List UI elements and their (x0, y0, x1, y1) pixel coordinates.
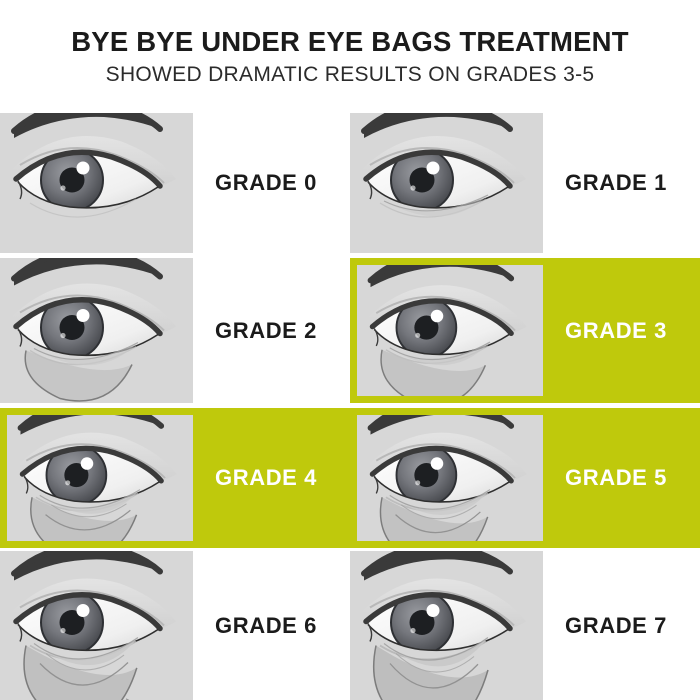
grade-cell-2[interactable]: GRADE 2 (0, 258, 350, 403)
page-title: BYE BYE UNDER EYE BAGS TREATMENT (0, 26, 700, 58)
eye-illustration-grade-3 (357, 265, 543, 396)
header: BYE BYE UNDER EYE BAGS TREATMENT SHOWED … (0, 0, 700, 113)
grade-cell-7[interactable]: GRADE 7 (350, 551, 700, 700)
eye-illustration-grade-7 (350, 551, 543, 700)
grade-cell-4[interactable]: GRADE 4 (0, 408, 350, 548)
grade-cell-5[interactable]: GRADE 5 (350, 408, 700, 548)
grade-cell-6[interactable]: GRADE 6 (0, 551, 350, 700)
page-subtitle: SHOWED DRAMATIC RESULTS ON GRADES 3-5 (0, 63, 700, 87)
grade-label-3: GRADE 3 (543, 258, 700, 403)
infographic-page: BYE BYE UNDER EYE BAGS TREATMENT SHOWED … (0, 0, 700, 700)
grade-label-1: GRADE 1 (543, 113, 700, 253)
eye-illustration-grade-6 (0, 551, 193, 700)
grade-label-5: GRADE 5 (543, 408, 700, 548)
eye-illustration-grade-4 (7, 415, 193, 541)
eye-illustration-grade-0 (0, 113, 193, 253)
eye-illustration-grade-5 (357, 415, 543, 541)
eye-illustration-grade-1 (350, 113, 543, 253)
eye-illustration-grade-2 (0, 258, 193, 403)
grade-cell-1[interactable]: GRADE 1 (350, 113, 700, 253)
grade-label-6: GRADE 6 (193, 551, 350, 700)
grade-scale-grid: GRADE 0 (0, 113, 700, 700)
grade-cell-0[interactable]: GRADE 0 (0, 113, 350, 253)
grade-label-2: GRADE 2 (193, 258, 350, 403)
grade-label-7: GRADE 7 (543, 551, 700, 700)
grade-label-4: GRADE 4 (193, 408, 350, 548)
grade-label-0: GRADE 0 (193, 113, 350, 253)
grade-cell-3[interactable]: GRADE 3 (350, 258, 700, 403)
